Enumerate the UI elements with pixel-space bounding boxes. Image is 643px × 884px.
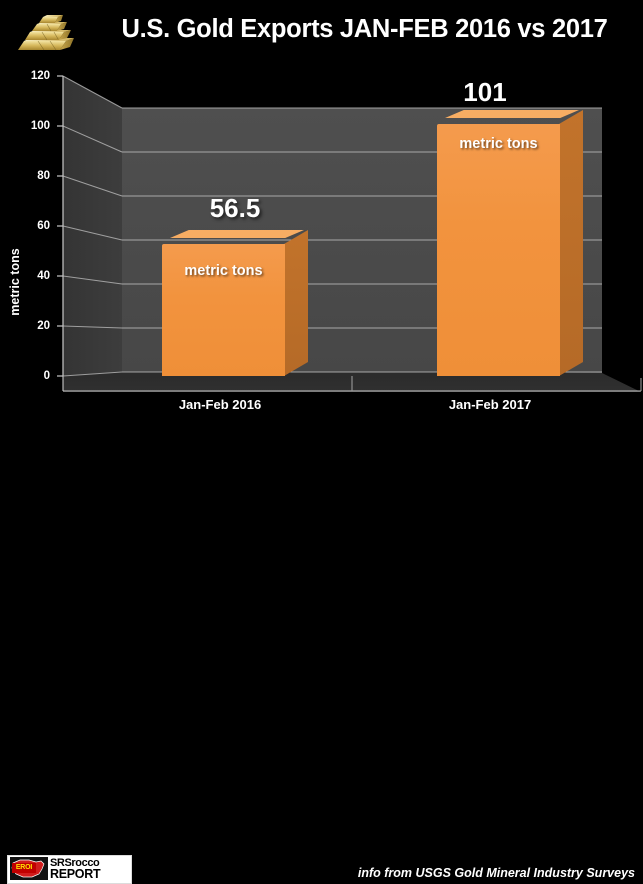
- bar-side-face: [284, 230, 308, 376]
- bar-value-label-2016: 56.5: [162, 193, 308, 224]
- bar-front-face: [437, 124, 560, 376]
- y-tick-label: 120: [16, 70, 50, 82]
- logo-line-report: REPORT: [50, 868, 100, 881]
- x-axis-category-label-2017: Jan-Feb 2017: [400, 397, 580, 412]
- x-axis-category-label-2016: Jan-Feb 2016: [130, 397, 310, 412]
- source-attribution: info from USGS Gold Mineral Industry Sur…: [358, 866, 635, 880]
- bar-top-face: [170, 230, 304, 238]
- eroi-badge: EROI: [12, 863, 36, 873]
- page-title: U.S. Gold Exports JAN-FEB 2016 vs 2017: [92, 11, 637, 47]
- bar-inner-label: metric tons: [437, 135, 560, 154]
- y-axis-title: metric tons: [8, 234, 22, 330]
- chart-footer: EROI SRSrocco REPORT info from USGS Gold…: [0, 425, 643, 461]
- bar-top-face: [445, 110, 579, 118]
- y-tick-label: 100: [16, 120, 50, 132]
- bar-side-face: [559, 110, 583, 376]
- bar-inner-label: metric tons: [162, 262, 285, 281]
- gold-bars-icon: [14, 10, 88, 54]
- y-tick-label: 80: [16, 170, 50, 182]
- y-tick-label: 0: [16, 370, 50, 382]
- y-tick-label: 60: [16, 220, 50, 232]
- chart-plot-area: 120 100 80 60 40 20 0 metric tons metric…: [0, 60, 643, 395]
- bar-value-label-2017: 101: [412, 77, 558, 108]
- chart-header: U.S. Gold Exports JAN-FEB 2016 vs 2017: [0, 0, 643, 62]
- logo-wordmark: SRSrocco REPORT: [50, 857, 130, 881]
- bar-column-jan-feb-2016[interactable]: metric tons: [162, 230, 308, 376]
- srsrocco-report-logo[interactable]: EROI SRSrocco REPORT: [7, 855, 132, 884]
- bar-column-jan-feb-2017[interactable]: metric tons: [437, 110, 583, 376]
